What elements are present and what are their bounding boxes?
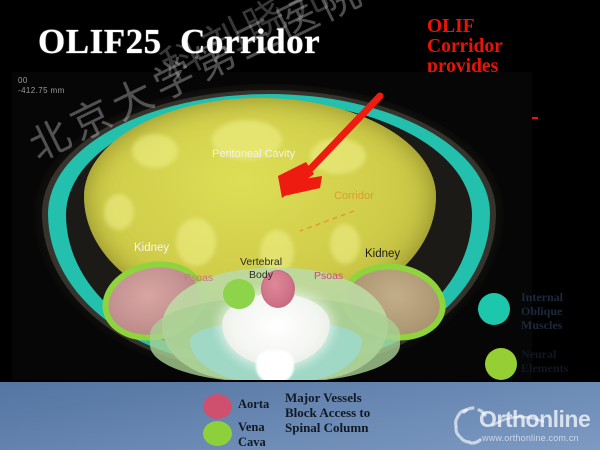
orthonline-brand-text: Orthonline	[479, 406, 590, 433]
label-psoas-left: Psoas	[184, 272, 213, 284]
corridor-dashed-line-icon	[296, 207, 356, 235]
legend-label-aorta: Aorta	[238, 397, 269, 412]
spinous-process-region	[256, 350, 294, 380]
legend-label-iom-line2: Oblique	[521, 304, 563, 318]
orthonline-mark-icon	[452, 404, 594, 448]
legend-label-internal-oblique-muscles: Internal Oblique Muscles	[521, 290, 563, 332]
label-kidney-left: Kidney	[134, 242, 169, 254]
legend-dot-neural-elements	[485, 348, 517, 380]
page-title: OLIF25 Corridor	[38, 22, 320, 62]
orthonline-logo: Orthonline www.orthonline.com.cn	[452, 404, 594, 448]
legend-dot-aorta	[203, 394, 232, 419]
callout-line-1: OLIF	[427, 17, 577, 37]
orthonline-url-text: www.orthonline.com.cn	[482, 433, 579, 443]
label-vertebral-body-line1: Vertebral	[240, 256, 282, 269]
label-vertebral-body: Vertebral Body	[240, 256, 282, 282]
legend-label-iom-line3: Muscles	[521, 318, 563, 332]
vena-cava-region	[223, 279, 255, 309]
dicom-series-label: 00	[18, 76, 28, 85]
dicom-slice-position: -412.75 mm	[18, 86, 65, 95]
legend-dot-internal-oblique-muscles	[478, 293, 510, 325]
legend-note-line3: Spinal Column	[285, 420, 370, 435]
red-arrow-icon	[262, 92, 392, 202]
legend-label-ne-line2: Elements	[521, 361, 568, 375]
legend-note-major-vessels: Major Vessels Block Access to Spinal Col…	[285, 390, 370, 435]
legend-label-vc-line1: Vena	[238, 420, 266, 435]
slide-stage: OLIF25 Corridor OLIF Corridor provides a…	[0, 0, 600, 382]
legend-dot-vena-cava	[203, 421, 232, 446]
legend-label-vc-line2: Cava	[238, 435, 266, 450]
label-psoas-right: Psoas	[314, 270, 343, 282]
presentation-slide: OLIF25 Corridor OLIF Corridor provides a…	[0, 0, 600, 450]
legend-label-vena-cava: Vena Cava	[238, 420, 266, 449]
legend-note-line1: Major Vessels	[285, 390, 370, 405]
legend-label-ne-line1: Neural	[521, 347, 568, 361]
legend-label-neural-elements: Neural Elements	[521, 347, 568, 375]
label-vertebral-body-line2: Body	[240, 269, 282, 282]
legend-label-iom-line1: Internal	[521, 290, 563, 304]
callout-line-2: Corridor	[427, 37, 577, 57]
label-kidney-right: Kidney	[365, 248, 400, 260]
legend-note-line2: Block Access to	[285, 405, 370, 420]
